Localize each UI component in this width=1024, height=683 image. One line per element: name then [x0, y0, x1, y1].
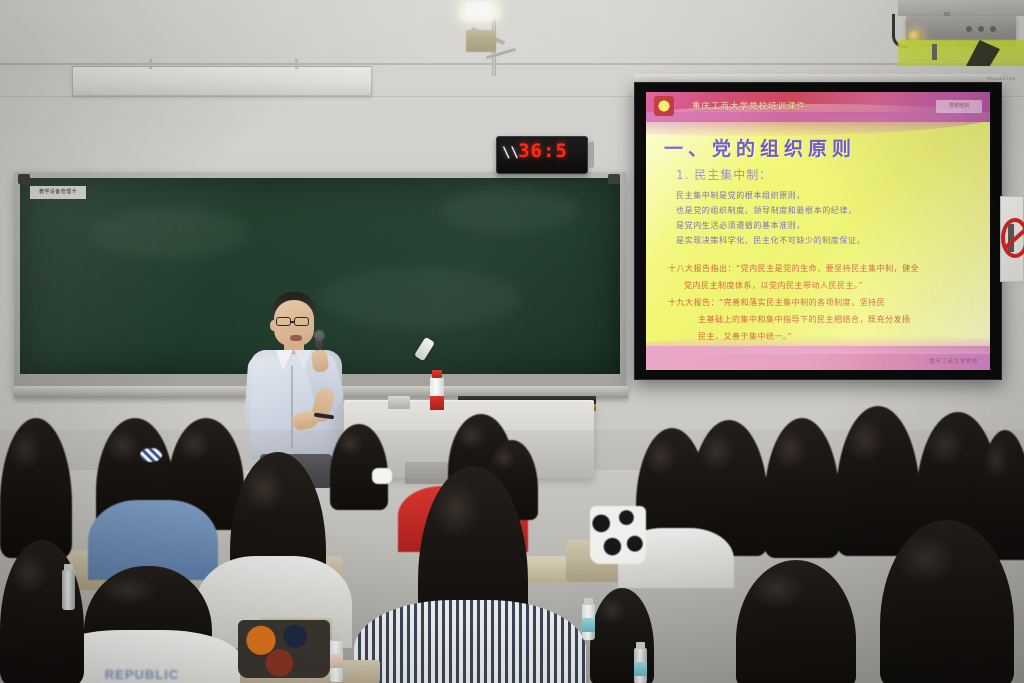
screen-brand-label: PROJECTOR [987, 76, 1016, 81]
water-bottle [582, 604, 595, 640]
slide-body-line: 民主集中制是党的根本组织原则， [676, 188, 976, 203]
banner-text: · · · · · [202, 81, 243, 87]
patterned-bag [590, 506, 646, 564]
slide-quote-line: 主基础上的集中和集中指导下的民主相结合，既充分发扬 [668, 311, 980, 328]
chalk-smudge-3 [440, 188, 580, 232]
clock-time-display: 36:5 [497, 140, 588, 162]
wall-banner-board: · · · · · [72, 66, 372, 96]
slide-header-text: 重庆工商大学党校培训课件 [692, 100, 806, 112]
projector-drop-rod [932, 44, 937, 60]
lamp-mount [466, 30, 496, 52]
projector-knob-1 [966, 26, 972, 32]
slide-body-line: 也是党的组织制度、领导制度和最根本的纪律， [676, 203, 976, 218]
bottle-label [634, 662, 647, 676]
student-backpack [238, 620, 330, 678]
slide-quote-block: 十八大报告指出：“党内民主是党的生命，要坚持民主集中制，健全 党内民主制度体系，… [668, 260, 980, 345]
microphone-head [314, 330, 325, 341]
slide-subtitle: 1. 民主集中制： [676, 166, 772, 183]
clock-sub-label: · · · · · · · · [497, 164, 588, 169]
bottle-cap [432, 370, 442, 378]
projector-knob-2 [978, 26, 984, 32]
tshirt-graphic-text: REPUBLIC [105, 667, 179, 682]
slide-footer-text: 重庆工商大学党校 [929, 357, 978, 365]
ceiling-lamp-icon [466, 2, 492, 16]
presentation-slide: ☭ 重庆工商大学党校培训课件 党校培训 一、党的组织原则 1. 民主集中制： 民… [646, 92, 990, 370]
banner-bracket-left [149, 59, 152, 69]
bottle-label [582, 618, 595, 632]
slide-quote-line: 党内民主制度体系，以党内民主带动人民民主。” [668, 277, 980, 294]
blackboard-equipment-label: 教学设备管理卡 [30, 186, 86, 199]
slide-body-line: 是实现决策科学化、民主化不可缺少的制度保证。 [676, 233, 976, 248]
glasses-icon [276, 317, 291, 326]
chalk-smudge-1 [90, 208, 250, 258]
glasses-lens-right [294, 317, 309, 326]
glasses-bridge [291, 321, 295, 323]
water-bottle [634, 648, 647, 683]
slide-title: 一、党的组织原则 [664, 134, 856, 161]
water-bottle [62, 570, 75, 610]
blackboard-corner-topleft [18, 174, 30, 184]
wall-seam-upper [0, 63, 1024, 65]
bottle-cap [636, 642, 645, 649]
slide-header-wave [646, 112, 990, 136]
projector-mount-plate [898, 0, 1024, 16]
water-bottle [330, 640, 343, 682]
podium-water-bottle [430, 370, 444, 416]
digital-clock: \\ 36:5 · · · · · · · · [496, 136, 588, 174]
party-emblem-icon: ☭ [654, 96, 674, 116]
face-mask-icon [372, 468, 392, 484]
podium-eraser-box [388, 396, 410, 409]
projector-light-beam [898, 40, 1024, 66]
slide-body-line: 是党内生活必须遵循的基本准则， [676, 218, 976, 233]
student-striped-shirt [354, 600, 586, 683]
bottle-label [430, 396, 444, 410]
wall-upper-band [0, 0, 1024, 64]
slide-quote-line: 十九大报告：“完善和落实民主集中制的各项制度，坚持民 [668, 294, 980, 311]
banner-bracket-right [295, 59, 298, 69]
blackboard-corner-topright [608, 174, 620, 184]
bottle-cap [64, 564, 73, 571]
bottle-label [330, 654, 343, 668]
hair-scrunchie [140, 448, 162, 462]
slide-header-badge: 党校培训 [936, 100, 982, 113]
slide-quote-line: 十八大报告指出：“党内民主是党的生命，要坚持民主集中制，健全 [668, 260, 980, 277]
slide-body: 民主集中制是党的根本组织原则， 也是党的组织制度、领导制度和最根本的纪律， 是党… [676, 188, 976, 248]
presenter-hand-holding-mic [311, 349, 330, 373]
bottle-cap [332, 634, 341, 641]
lecture-hall-scene: · · · · · 教学设备管理卡 \\ 36:5 · · · · · · · … [0, 0, 1024, 683]
presenter-mouth [290, 335, 302, 341]
projector-knob-3 [990, 26, 996, 32]
bottle-cap [584, 598, 593, 605]
